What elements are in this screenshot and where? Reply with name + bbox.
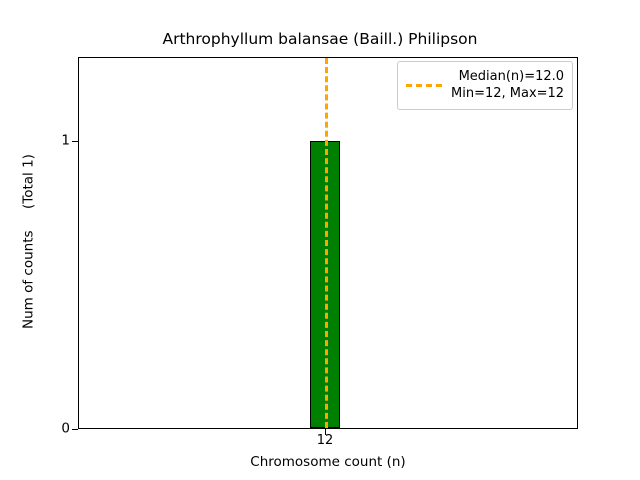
chart-figure: Arthrophyllum balansae (Baill.) Philipso… <box>0 0 640 480</box>
legend: Median(n)=12.0 Min=12, Max=12 <box>397 61 573 110</box>
x-tick-label-12: 12 <box>317 434 334 447</box>
dashed-line-icon <box>406 84 442 87</box>
x-axis-label: Chromosome count (n) <box>78 455 578 470</box>
y-tick-label-0: 0 <box>0 429 78 443</box>
y-tick-mark-0 <box>72 429 78 430</box>
legend-entry-median: Median(n)=12.0 Min=12, Max=12 <box>406 68 564 102</box>
legend-entry-median-texts: Median(n)=12.0 Min=12, Max=12 <box>451 68 564 102</box>
legend-minmax-label: Min=12, Max=12 <box>451 85 564 102</box>
y-axis-label: Num of counts (Total 1) <box>22 82 37 402</box>
chart-title: Arthrophyllum balansae (Baill.) Philipso… <box>0 30 640 48</box>
x-tick-label-12-text: 12 <box>317 433 334 448</box>
y-tick-label-1: 1 <box>0 141 78 155</box>
plot-area: Median(n)=12.0 Min=12, Max=12 <box>78 57 578 429</box>
median-line <box>325 58 328 428</box>
legend-median-label: Median(n)=12.0 <box>459 68 565 85</box>
